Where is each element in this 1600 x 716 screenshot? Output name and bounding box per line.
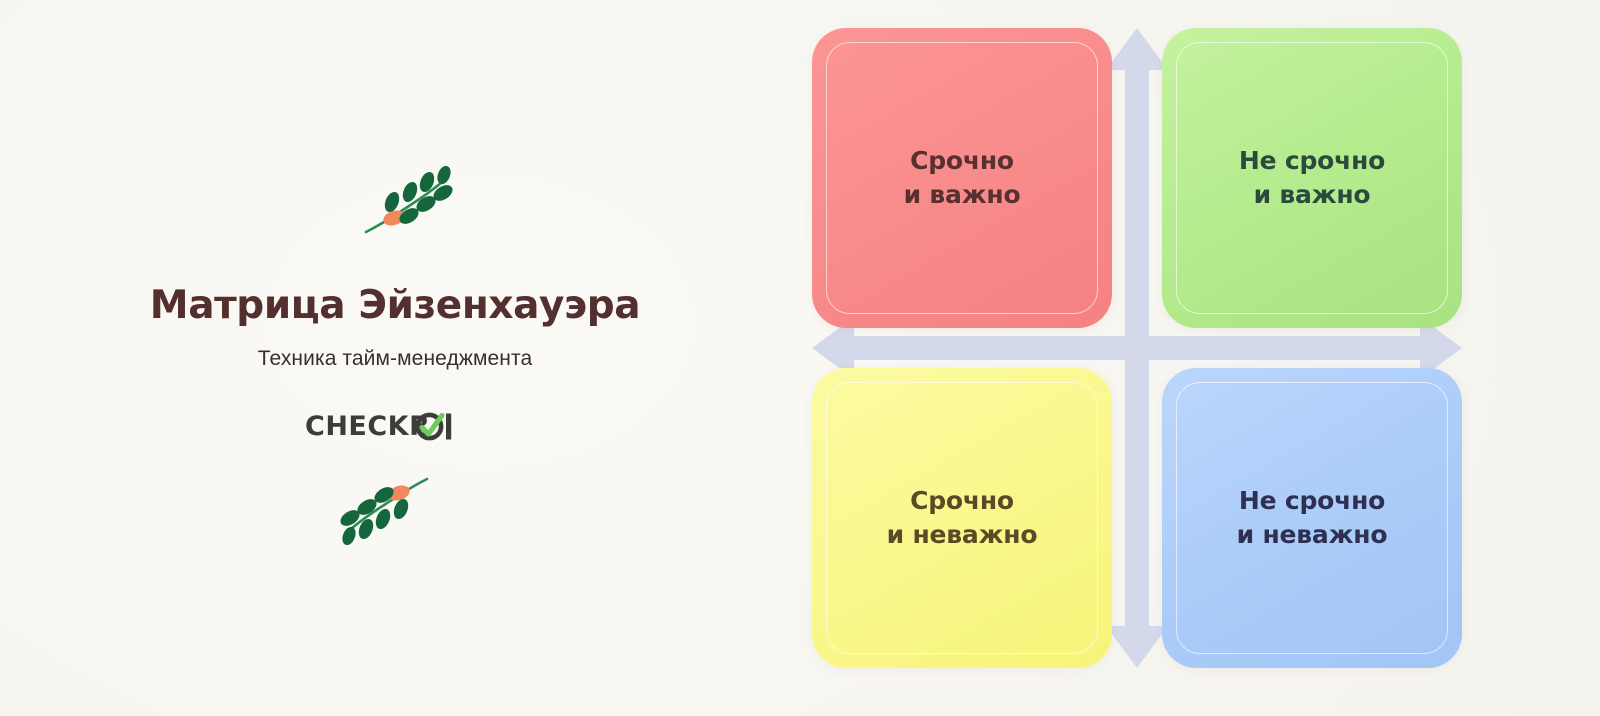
brand-logo[interactable]: CHECKR xyxy=(305,409,477,443)
quadrant-urgent-important[interactable]: Срочно и важно xyxy=(812,28,1112,328)
eisenhower-matrix: Срочно и важно Не срочно и важно Срочно … xyxy=(800,0,1480,716)
quadrant-urgent-not-important[interactable]: Срочно и неважно xyxy=(812,368,1112,668)
infographic-canvas: Матрица Эйзенхауэра Техника тайм-менеджм… xyxy=(0,0,1600,716)
left-title-panel: Матрица Эйзенхауэра Техника тайм-менеджм… xyxy=(0,0,800,716)
leafy-branch-icon xyxy=(333,473,433,550)
page-subtitle: Техника тайм-менеджмента xyxy=(258,347,533,371)
quadrant-grid: Срочно и важно Не срочно и важно Срочно … xyxy=(812,28,1462,668)
title-stack: Матрица Эйзенхауэра Техника тайм-менеджм… xyxy=(75,166,715,551)
quadrant-label: Срочно и важно xyxy=(904,144,1021,213)
quadrant-label: Не срочно и неважно xyxy=(1237,484,1388,553)
quadrant-label: Срочно и неважно xyxy=(887,484,1038,553)
svg-text:CHECKR: CHECKR xyxy=(305,411,430,442)
quadrant-not-urgent-important[interactable]: Не срочно и важно xyxy=(1162,28,1462,328)
leafy-branch-icon xyxy=(360,166,460,243)
page-title: Матрица Эйзенхауэра xyxy=(150,285,640,328)
matrix-inner: Срочно и важно Не срочно и важно Срочно … xyxy=(812,28,1462,668)
quadrant-not-urgent-not-important[interactable]: Не срочно и неважно xyxy=(1162,368,1462,668)
quadrant-label: Не срочно и важно xyxy=(1239,144,1385,213)
